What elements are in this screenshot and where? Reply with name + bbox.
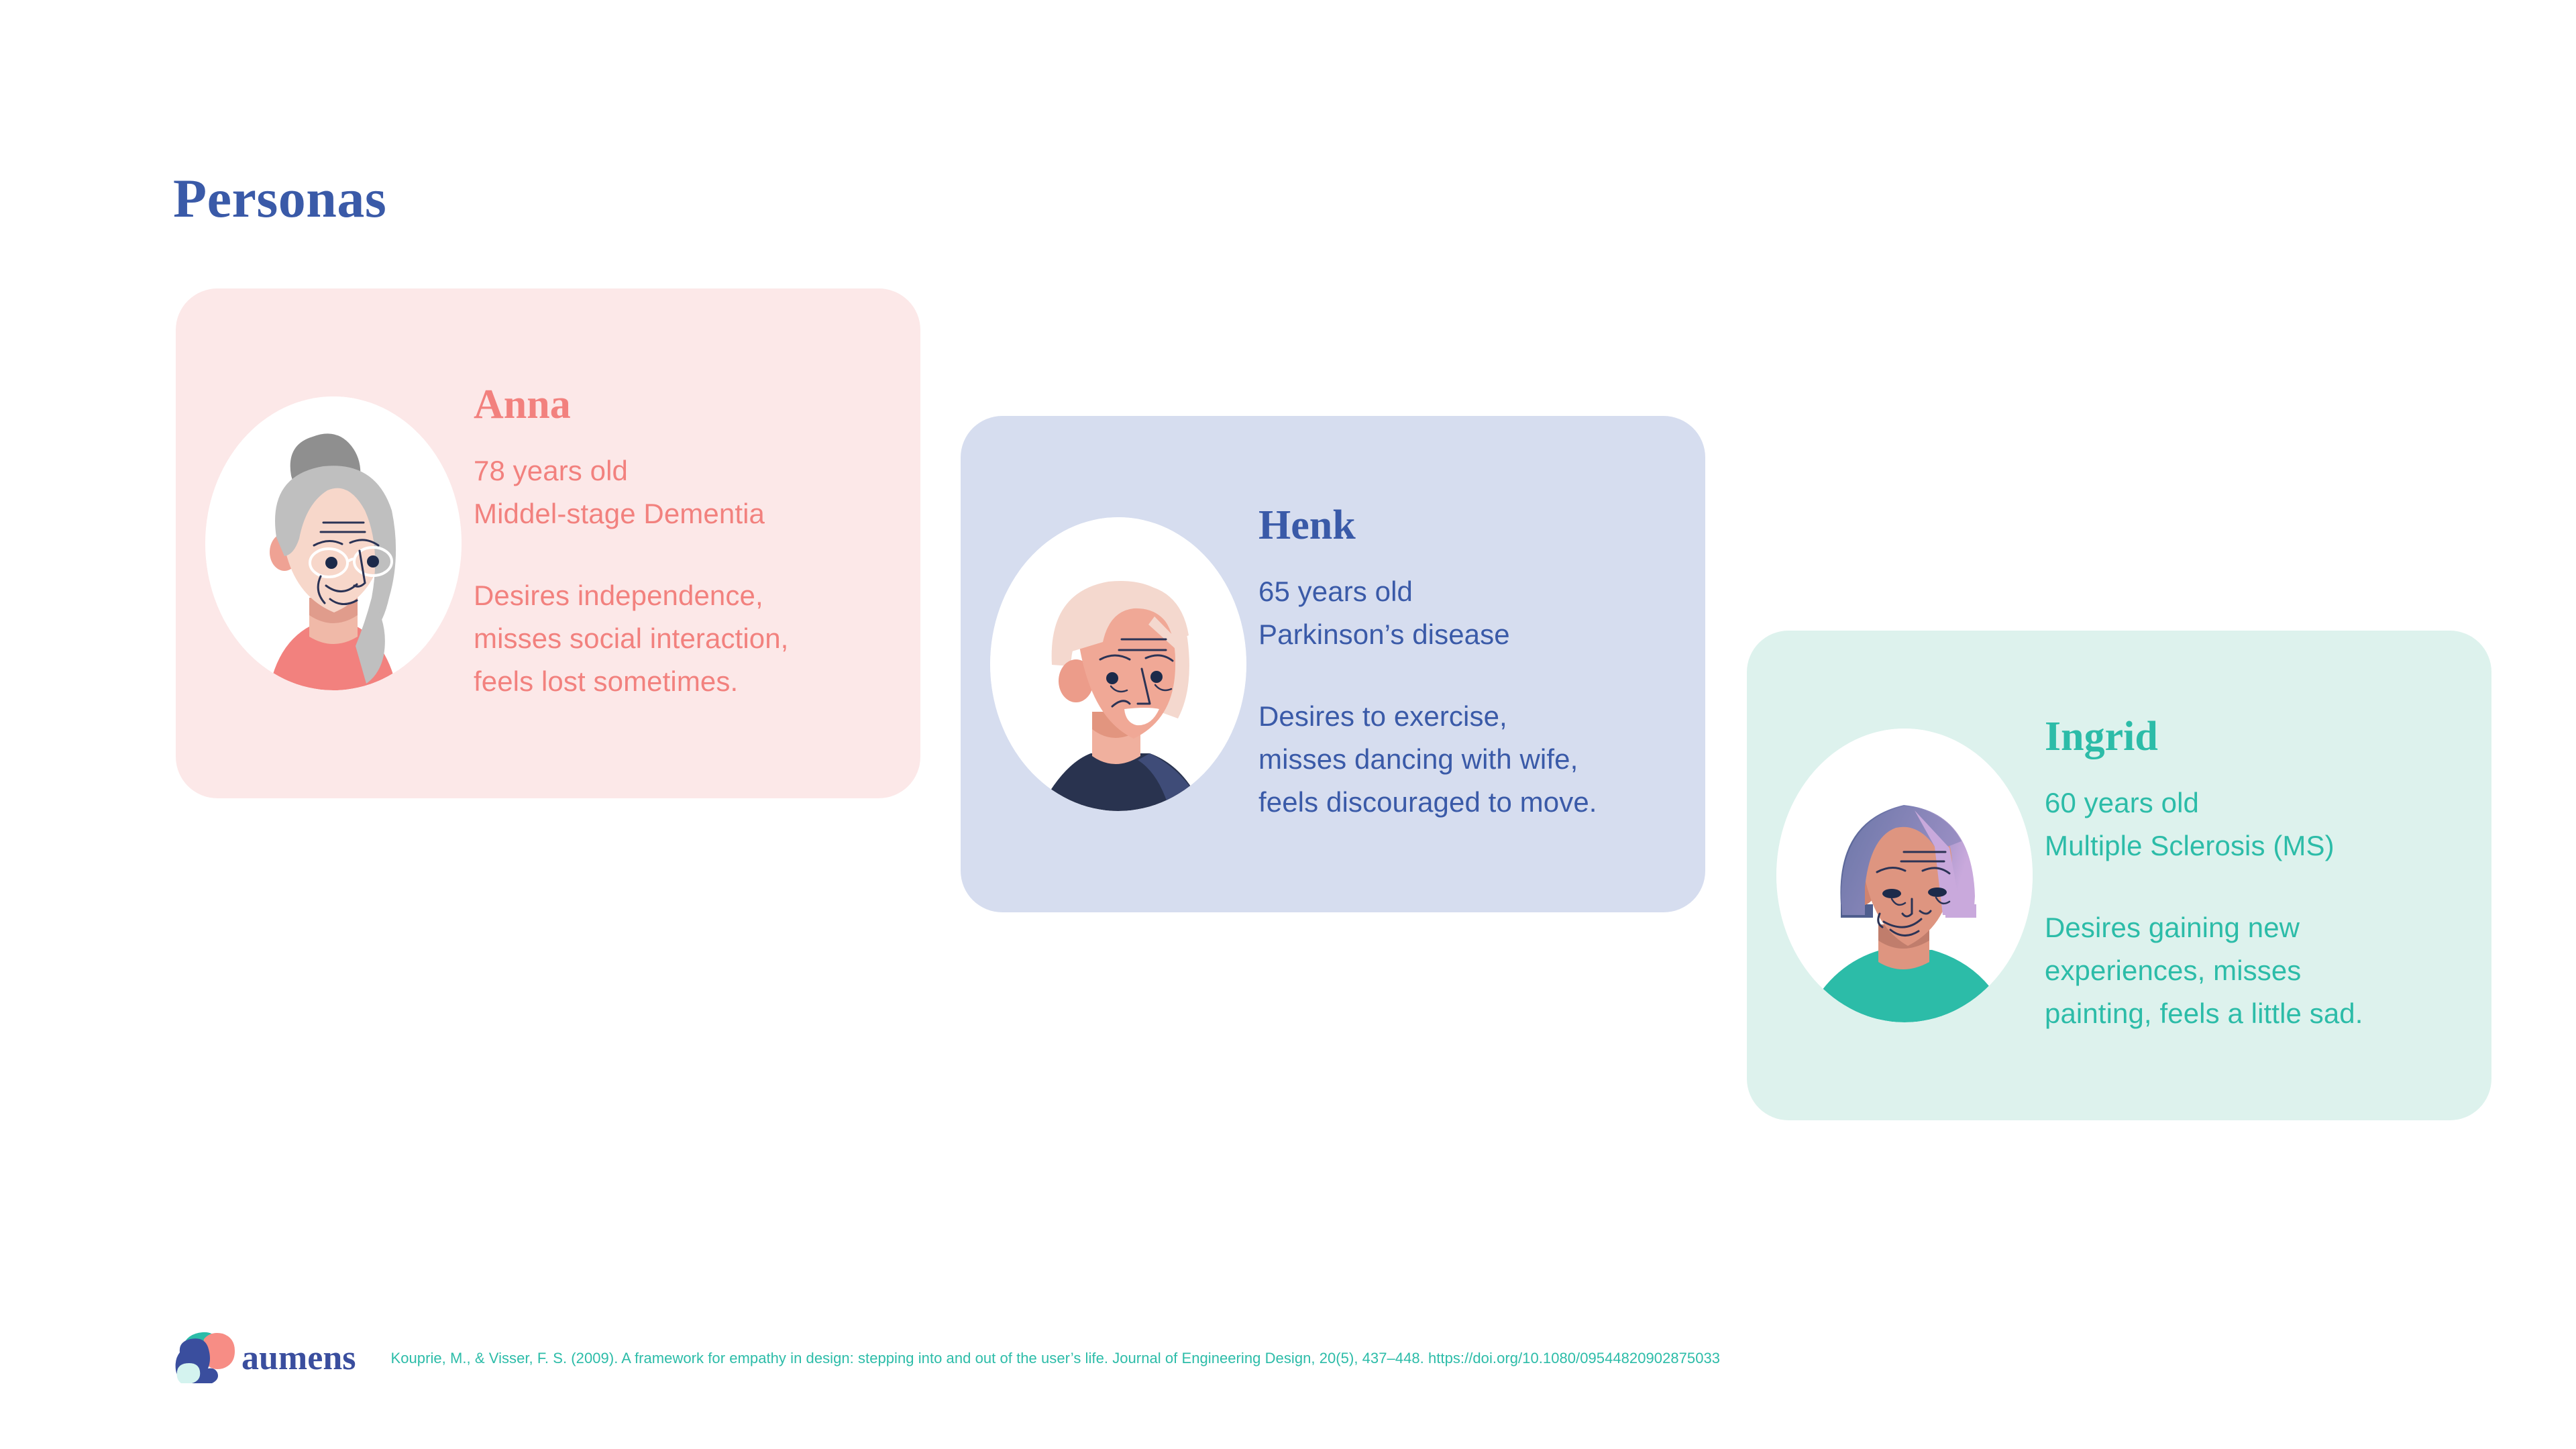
persona-description-line: Desires gaining new [2045, 906, 2454, 949]
persona-name-ingrid: Ingrid [2045, 716, 2454, 757]
persona-text-ingrid: Ingrid 60 years old Multiple Sclerosis (… [2033, 716, 2454, 1034]
persona-card-henk: Henk 65 years old Parkinson’s disease De… [961, 416, 1705, 912]
persona-description-line: feels discouraged to move. [1258, 781, 1668, 824]
persona-text-anna: Anna 78 years old Middel-stage Dementia … [462, 384, 883, 702]
avatar-anna [205, 396, 462, 690]
avatar-oval-henk [990, 517, 1246, 811]
spacer [474, 535, 883, 574]
persona-description-line: feels lost sometimes. [474, 660, 883, 703]
footer: aumens Kouprie, M., & Visser, F. S. (200… [173, 1322, 1720, 1395]
persona-description-line: experiences, misses [2045, 949, 2454, 992]
brand-name: aumens [241, 1341, 356, 1376]
persona-text-henk: Henk 65 years old Parkinson’s disease De… [1246, 504, 1668, 823]
citation-text: Kouprie, M., & Visser, F. S. (2009). A f… [390, 1351, 1720, 1366]
persona-description-henk: Desires to exercise, misses dancing with… [1258, 695, 1668, 823]
persona-description-anna: Desires independence, misses social inte… [474, 574, 883, 702]
persona-age-henk: 65 years old [1258, 570, 1668, 613]
avatar-oval-anna [205, 396, 462, 690]
page-title: Personas [173, 171, 386, 226]
persona-condition-henk: Parkinson’s disease [1258, 613, 1668, 656]
persona-condition-ingrid: Multiple Sclerosis (MS) [2045, 824, 2454, 867]
persona-description-ingrid: Desires gaining new experiences, misses … [2045, 906, 2454, 1034]
persona-description-line: Desires to exercise, [1258, 695, 1668, 738]
persona-description-line: misses social interaction, [474, 617, 883, 660]
persona-description-line: painting, feels a little sad. [2045, 992, 2454, 1035]
persona-name-henk: Henk [1258, 504, 1668, 546]
persona-age-ingrid: 60 years old [2045, 782, 2454, 824]
persona-condition-anna: Middel-stage Dementia [474, 492, 883, 535]
avatar-henk [990, 517, 1246, 811]
persona-age-anna: 78 years old [474, 449, 883, 492]
avatar-ingrid [1776, 729, 2033, 1022]
spacer [2045, 867, 2454, 906]
persona-card-ingrid: Ingrid 60 years old Multiple Sclerosis (… [1747, 631, 2491, 1120]
brain-icon [173, 1330, 237, 1387]
avatar-oval-ingrid [1776, 729, 2033, 1022]
persona-description-line: Desires independence, [474, 574, 883, 617]
persona-name-anna: Anna [474, 384, 883, 425]
spacer [1258, 656, 1668, 695]
persona-description-line: misses dancing with wife, [1258, 738, 1668, 781]
aumens-logo: aumens [173, 1330, 356, 1387]
persona-card-anna: Anna 78 years old Middel-stage Dementia … [176, 288, 920, 798]
